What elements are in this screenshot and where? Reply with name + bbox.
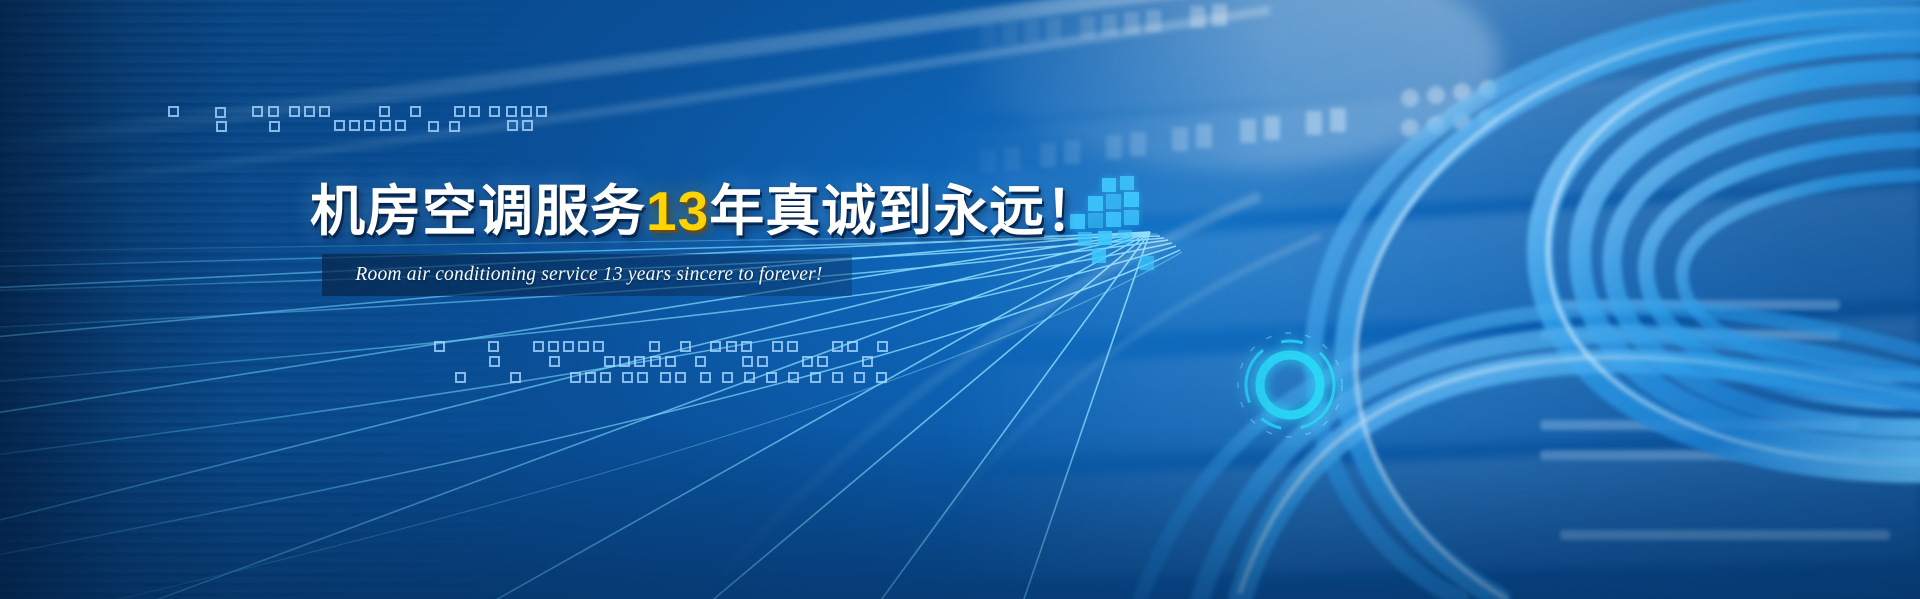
decor-square (289, 106, 300, 117)
decor-square (650, 356, 661, 367)
decor-square (536, 106, 547, 117)
decor-square (455, 372, 466, 383)
decor-square (593, 341, 604, 352)
decor-square (410, 106, 421, 117)
decor-square (680, 341, 691, 352)
decor-square (521, 106, 532, 117)
decor-square (570, 372, 581, 383)
decor-square (810, 372, 821, 383)
decor-square (854, 372, 865, 383)
decor-square (675, 372, 686, 383)
decor-square (304, 106, 315, 117)
decor-square (862, 356, 873, 367)
decor-square (269, 121, 280, 132)
decor-square (364, 120, 375, 131)
mosaic-pixel (1140, 256, 1154, 270)
decor-square (619, 356, 630, 367)
decor-square (847, 341, 858, 352)
decor-square (449, 121, 460, 132)
hero-banner: 机房空调服务13年真诚到永远！ Room air conditioning se… (0, 0, 1920, 599)
decor-square (549, 356, 560, 367)
decor-square (380, 120, 391, 131)
decor-square (522, 120, 533, 131)
decor-square (665, 356, 676, 367)
mosaic-pixel (1118, 230, 1132, 244)
decor-square (710, 341, 721, 352)
decor-square (489, 106, 500, 117)
decor-square (578, 341, 589, 352)
decor-square (215, 107, 226, 118)
decor-square (877, 341, 888, 352)
decor-square (395, 120, 406, 131)
decor-square (454, 106, 465, 117)
decor-square (622, 372, 633, 383)
decor-square (379, 106, 390, 117)
decor-square (268, 106, 279, 117)
mosaic-pixel (1106, 194, 1121, 209)
decor-square (548, 341, 559, 352)
decor-square (772, 341, 783, 352)
decor-square (660, 372, 671, 383)
decor-square (700, 372, 711, 383)
banner-subtitle: Room air conditioning service 13 years s… (336, 255, 842, 295)
decor-square (722, 372, 733, 383)
bottom-vignette (0, 429, 1920, 599)
decor-square (637, 372, 648, 383)
decor-square (349, 120, 360, 131)
decor-square (510, 372, 521, 383)
decor-square (428, 121, 439, 132)
decor-square (832, 341, 843, 352)
decor-square (252, 106, 263, 117)
decor-square (742, 356, 753, 367)
decor-square (585, 372, 596, 383)
decor-square (726, 341, 737, 352)
decor-square (876, 372, 887, 383)
mosaic-pixel (1106, 212, 1121, 227)
mosaic-pixel (1120, 176, 1134, 190)
decor-square (334, 120, 345, 131)
decor-square (744, 372, 755, 383)
headline-prefix: 机房空调服务 (310, 180, 646, 242)
decor-square (319, 106, 330, 117)
mosaic-pixel (1102, 178, 1116, 192)
decor-square (533, 341, 544, 352)
decor-square (766, 372, 777, 383)
decor-square (434, 341, 445, 352)
decor-square (506, 106, 517, 117)
decor-square (488, 341, 499, 352)
decor-square (489, 356, 500, 367)
decor-square (216, 121, 227, 132)
mosaic-pixel (1124, 192, 1139, 207)
decor-square (741, 341, 752, 352)
decor-square (817, 356, 828, 367)
decor-square (507, 120, 518, 131)
decor-square (649, 341, 660, 352)
decor-square (695, 356, 706, 367)
headline-suffix: 年真诚到永远！ (709, 180, 1101, 242)
decor-square (634, 356, 645, 367)
banner-headline: 机房空调服务13年真诚到永远！ (310, 166, 1101, 246)
decor-square (832, 372, 843, 383)
headline-number: 13 (646, 180, 709, 242)
decor-square (802, 356, 813, 367)
decor-square (604, 356, 615, 367)
decor-square (787, 341, 798, 352)
decor-square (563, 341, 574, 352)
mosaic-pixel (1092, 249, 1106, 263)
decor-square (788, 372, 799, 383)
decor-square (168, 106, 179, 117)
decor-square (469, 106, 480, 117)
mosaic-pixel (1124, 210, 1139, 225)
decor-square (757, 356, 768, 367)
decor-square (600, 372, 611, 383)
